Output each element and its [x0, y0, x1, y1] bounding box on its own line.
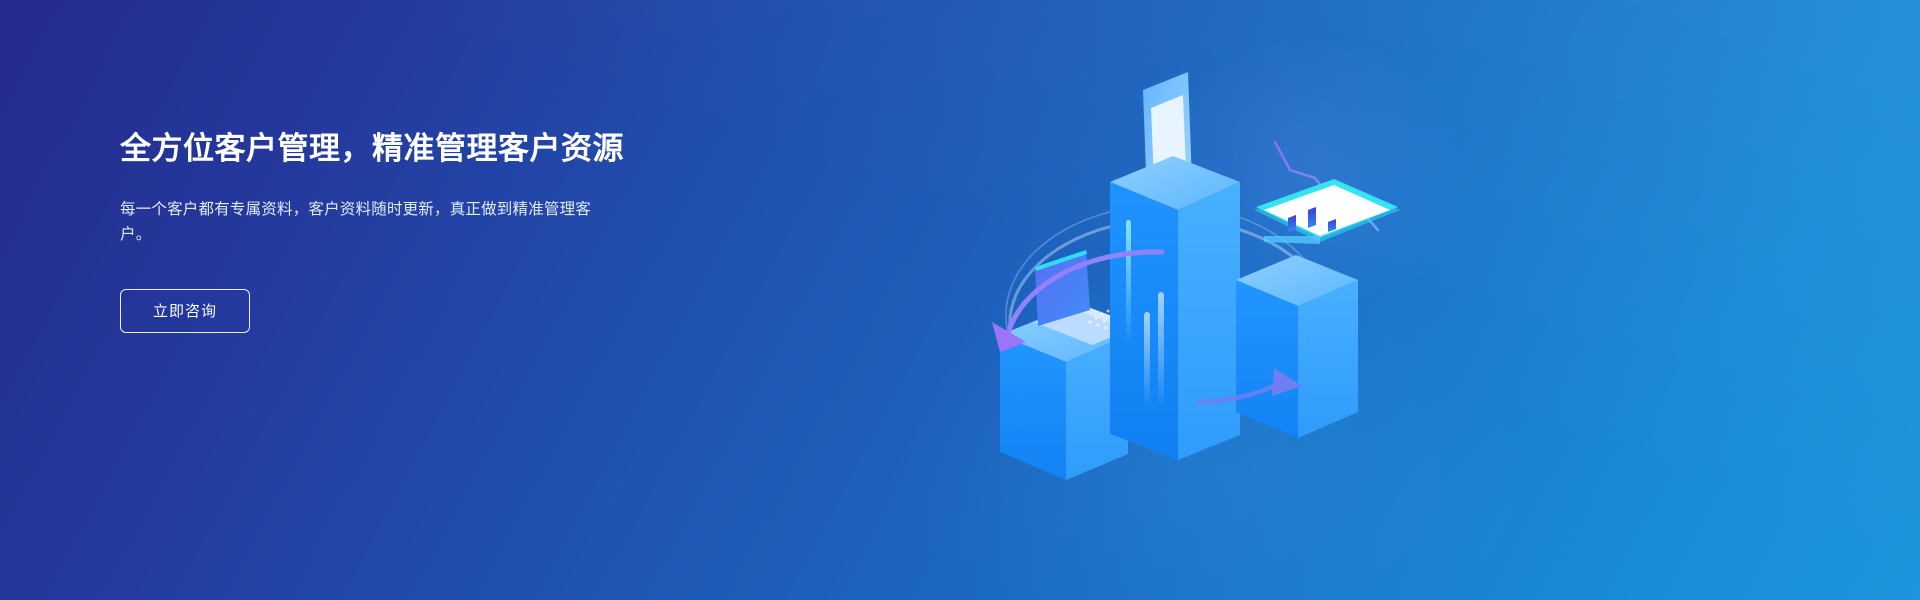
page-title: 全方位客户管理，精准管理客户资源 — [120, 130, 740, 169]
hero-illustration — [930, 30, 1400, 500]
hero-banner: 全方位客户管理，精准管理客户资源 每一个客户都有专属资料，客户资料随时更新，真正… — [0, 0, 1920, 600]
hero-copy: 全方位客户管理，精准管理客户资源 每一个客户都有专属资料，客户资料随时更新，真正… — [120, 130, 740, 333]
hero-subtitle: 每一个客户都有专属资料，客户资料随时更新，真正做到精准管理客户。 — [120, 197, 600, 247]
consult-now-button[interactable]: 立即咨询 — [120, 289, 250, 333]
pillar-right-chart-monitor — [1236, 179, 1400, 438]
